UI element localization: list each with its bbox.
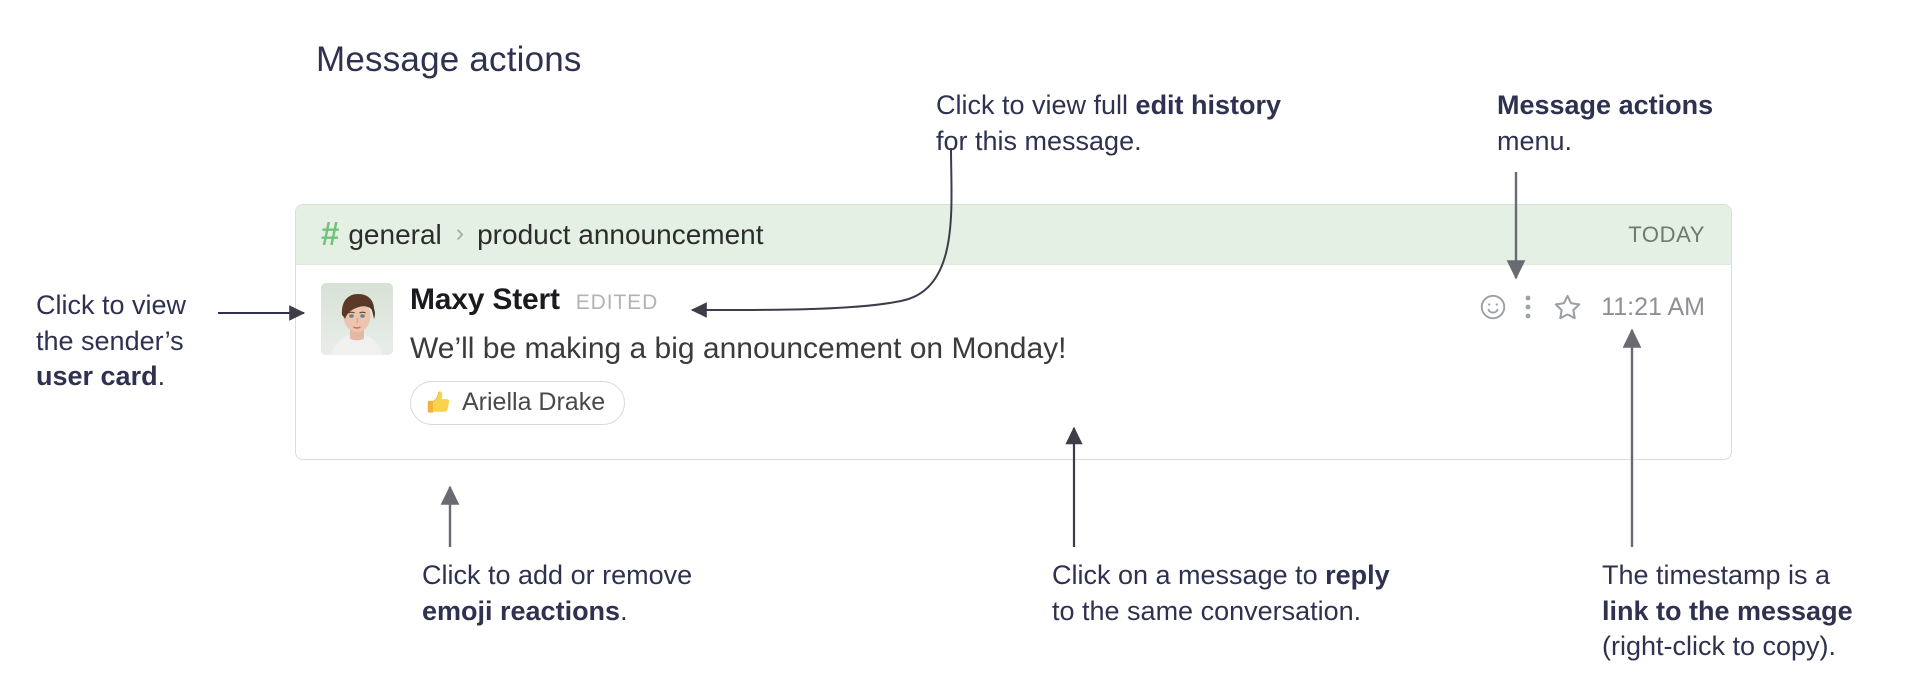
breadcrumb-topic-name[interactable]: product announcement [477, 219, 763, 251]
annotation-emoji-reactions-line2-tail: . [620, 596, 628, 626]
thumbs-up-emoji-icon [424, 389, 451, 416]
page-title: Message actions [316, 40, 582, 80]
reaction-pill[interactable]: Ariella Drake [410, 381, 625, 425]
annotation-reply-line1-bold: reply [1325, 560, 1390, 590]
star-outline-icon[interactable] [1547, 288, 1587, 326]
annotation-actions-menu: Message actions menu. [1497, 88, 1713, 159]
reaction-user-label: Ariella Drake [462, 388, 605, 417]
hash-icon: # [321, 217, 339, 250]
reaction-row: Ariella Drake [410, 381, 1705, 425]
chevron-right-icon: › [456, 219, 464, 248]
annotation-actions-menu-line2: menu. [1497, 124, 1713, 160]
annotation-timestamp: The timestamp is a link to the message (… [1602, 558, 1853, 665]
annotation-reply-line1: Click on a message to reply [1052, 558, 1390, 594]
channel-breadcrumb-header: # general › product announcement TODAY [296, 205, 1731, 265]
annotation-user-card: Click to view the sender’s user card. [36, 288, 186, 395]
annotation-timestamp-line2-bold: link to the message [1602, 596, 1853, 626]
annotation-user-card-line3-tail: . [158, 361, 166, 391]
annotation-emoji-reactions-line2-bold: emoji reactions [422, 596, 620, 626]
annotation-actions-menu-line1: Message actions [1497, 88, 1713, 124]
annotation-actions-menu-line1-bold: Message actions [1497, 90, 1713, 120]
annotation-emoji-reactions-line1: Click to add or remove [422, 558, 692, 594]
vertical-dots-icon[interactable] [1511, 289, 1545, 325]
annotation-timestamp-line2: link to the message [1602, 594, 1853, 630]
annotation-timestamp-line1: The timestamp is a [1602, 558, 1853, 594]
message-row[interactable]: Maxy Stert EDITED We’ll be making a big … [296, 265, 1731, 425]
annotation-user-card-line1: Click to view [36, 288, 186, 324]
smiley-face-icon[interactable] [1475, 289, 1511, 325]
annotation-edit-history-line2: for this message. [936, 124, 1281, 160]
annotation-edit-history-line1: Click to view full edit history [936, 88, 1281, 124]
annotation-emoji-reactions: Click to add or remove emoji reactions. [422, 558, 692, 629]
annotation-user-card-line2: the sender’s [36, 324, 186, 360]
date-label: TODAY [1628, 222, 1705, 248]
annotation-emoji-reactions-line2: emoji reactions. [422, 594, 692, 630]
message-actions-toolbar: 11:21 AM [1475, 287, 1705, 327]
annotation-reply-line1-plain: Click on a message to [1052, 560, 1325, 590]
annotation-timestamp-line3: (right-click to copy). [1602, 629, 1853, 665]
avatar[interactable] [321, 283, 393, 355]
message-timestamp-link[interactable]: 11:21 AM [1601, 293, 1705, 322]
annotation-edit-history-line1-plain: Click to view full [936, 90, 1136, 120]
annotation-edit-history-line1-bold: edit history [1136, 90, 1282, 120]
edited-badge[interactable]: EDITED [576, 291, 658, 315]
breadcrumb-channel-name[interactable]: general [348, 219, 441, 251]
sender-name[interactable]: Maxy Stert [410, 283, 560, 317]
message-card[interactable]: # general › product announcement TODAY [295, 204, 1732, 460]
annotation-user-card-line3: user card. [36, 359, 186, 395]
message-body-text[interactable]: We’ll be making a big announcement on Mo… [410, 332, 1705, 367]
annotation-edit-history: Click to view full edit history for this… [936, 88, 1281, 159]
annotation-reply-line2: to the same conversation. [1052, 594, 1390, 630]
annotation-user-card-line3-bold: user card [36, 361, 158, 391]
annotation-reply: Click on a message to reply to the same … [1052, 558, 1390, 629]
